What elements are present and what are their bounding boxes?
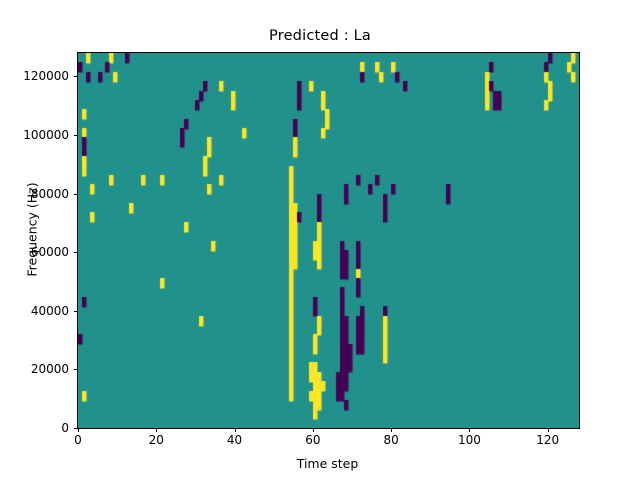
y-tick-mark bbox=[74, 252, 78, 253]
page-title: Predicted : La bbox=[0, 28, 640, 44]
x-tick-mark bbox=[469, 428, 470, 432]
x-tick-mark bbox=[313, 428, 314, 432]
x-tick-mark bbox=[78, 428, 79, 432]
spectrogram-heatmap bbox=[78, 53, 579, 428]
y-axis-label: Frequency (Hz) bbox=[25, 120, 40, 340]
y-tick-mark bbox=[74, 428, 78, 429]
y-tick-mark bbox=[74, 311, 78, 312]
x-axis-label: Time step bbox=[77, 456, 578, 471]
y-tick-mark bbox=[74, 135, 78, 136]
x-tick-label: 120 bbox=[518, 434, 578, 446]
x-tick-mark bbox=[235, 428, 236, 432]
y-tick-mark bbox=[74, 194, 78, 195]
x-tick-mark bbox=[391, 428, 392, 432]
x-tick-label: 20 bbox=[126, 434, 186, 446]
x-tick-label: 80 bbox=[361, 434, 421, 446]
y-tick-label: 120000 bbox=[5, 70, 69, 82]
matplotlib-figure: Predicted : La 0200004000060000800001000… bbox=[0, 0, 640, 480]
x-tick-label: 40 bbox=[205, 434, 265, 446]
y-tick-mark bbox=[74, 76, 78, 77]
y-tick-label: 20000 bbox=[5, 363, 69, 375]
x-tick-mark bbox=[156, 428, 157, 432]
x-tick-mark bbox=[548, 428, 549, 432]
x-tick-label: 100 bbox=[439, 434, 499, 446]
x-tick-label: 60 bbox=[283, 434, 343, 446]
y-tick-label: 0 bbox=[5, 422, 69, 434]
x-tick-label: 0 bbox=[48, 434, 108, 446]
heatmap-axes bbox=[77, 52, 580, 429]
y-tick-mark bbox=[74, 369, 78, 370]
